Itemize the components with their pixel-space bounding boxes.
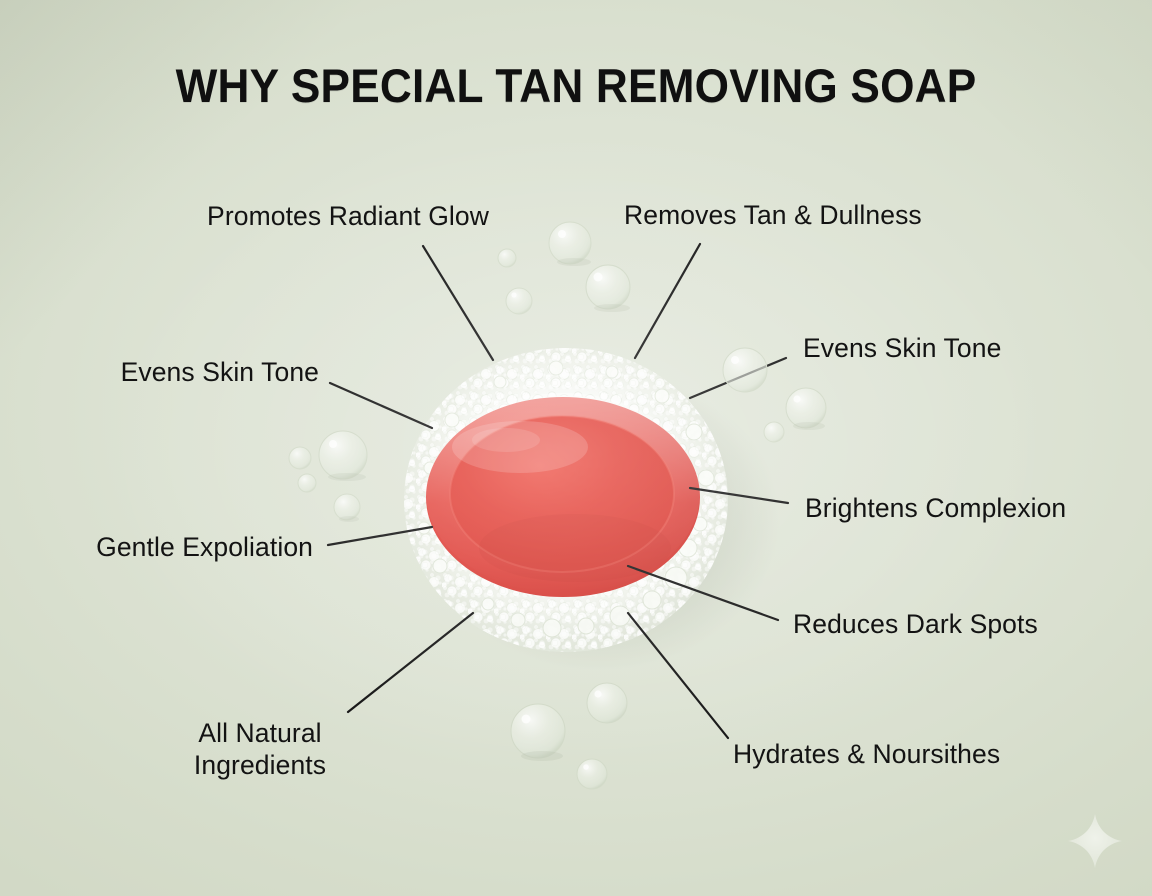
droplet bbox=[298, 474, 316, 492]
droplet bbox=[764, 422, 784, 442]
benefit-label-reduces-dark-spots: Reduces Dark Spots bbox=[793, 609, 1038, 641]
page-title: WHY SPECIAL TAN REMOVING SOAP bbox=[35, 58, 1118, 113]
sparkle-icon-wrapper bbox=[1066, 812, 1124, 870]
soap-bar bbox=[426, 393, 700, 597]
droplet bbox=[587, 683, 627, 723]
benefit-label-promotes-radiant-glow: Promotes Radiant Glow bbox=[0, 201, 489, 233]
benefit-label-removes-tan-dullness: Removes Tan & Dullness bbox=[624, 200, 922, 232]
benefit-label-all-natural-ingredients: All Natural Ingredients bbox=[160, 717, 360, 782]
droplet bbox=[506, 288, 532, 314]
sparkle-icon bbox=[1066, 812, 1124, 870]
benefit-label-hydrates-noursithes: Hydrates & Noursithes bbox=[733, 739, 1000, 771]
benefit-label-gentle-expoliation: Gentle Expoliation bbox=[0, 532, 313, 564]
droplet bbox=[498, 249, 516, 267]
droplet bbox=[577, 759, 607, 789]
benefit-label-brightens-complexion: Brightens Complexion bbox=[805, 493, 1066, 525]
benefit-label-evens-skin-tone-left: Evens Skin Tone bbox=[0, 357, 319, 389]
poster-canvas: WHY SPECIAL TAN REMOVING SOAP Promotes R… bbox=[0, 0, 1152, 896]
droplet bbox=[289, 447, 311, 469]
droplet bbox=[723, 348, 767, 392]
benefit-label-evens-skin-tone-right: Evens Skin Tone bbox=[803, 333, 1001, 365]
